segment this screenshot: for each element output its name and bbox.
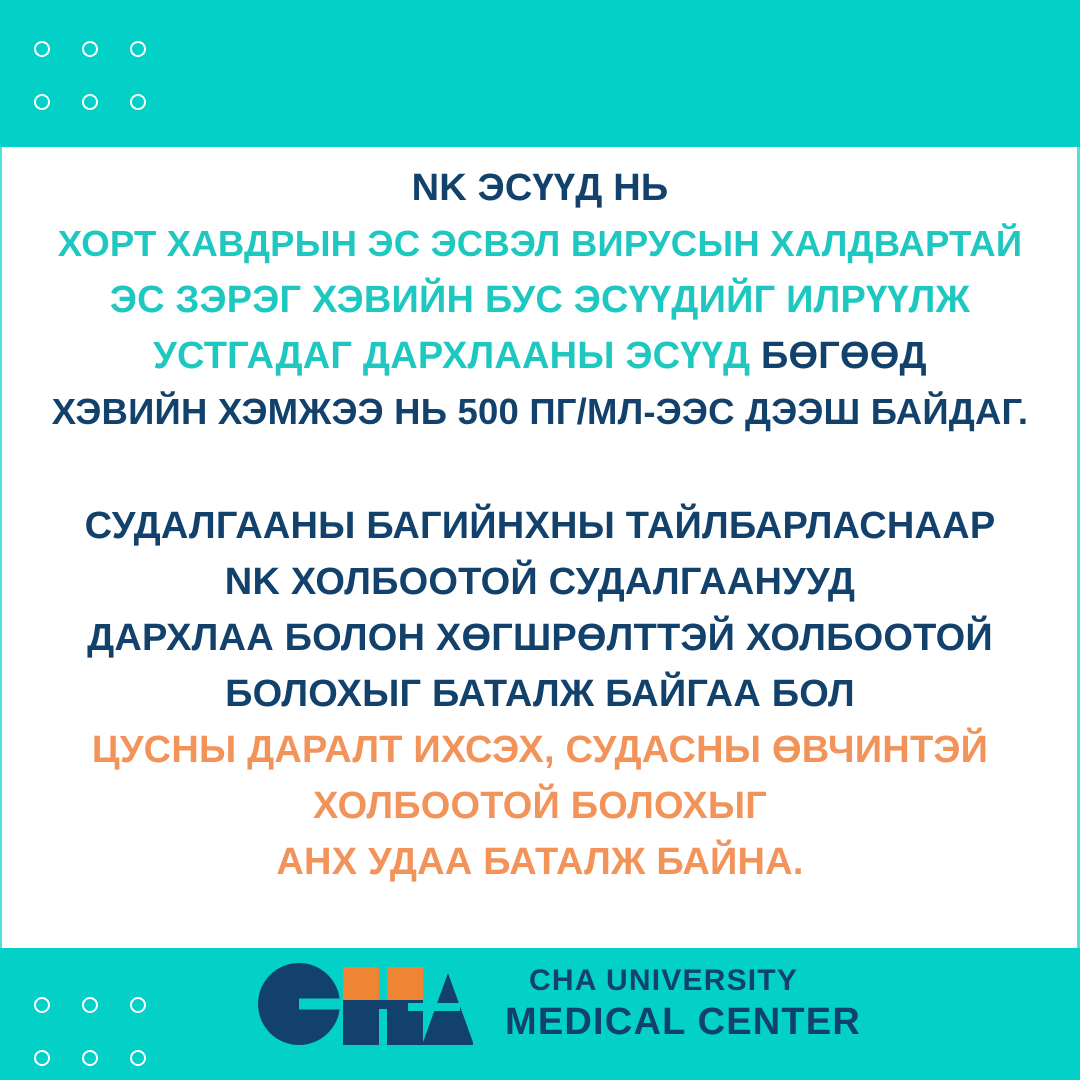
circle-outline-icon: [66, 75, 114, 128]
circle-outline-icon: [18, 1031, 66, 1080]
paragraph-two: СУДАЛГААНЫ БАГИЙНХНЫ ТАЙЛБАРЛАСНААР NK Х…: [0, 498, 1080, 722]
brand-line-university: CHA UNIVERSITY: [529, 966, 861, 996]
paragraph-three: ЦУСНЫ ДАРАЛТ ИХСЭХ, СУДАСНЫ ӨВЧИНТЭЙ ХОЛ…: [0, 722, 1080, 890]
text-line: NK ЭСҮҮД НЬ: [0, 160, 1080, 216]
poster-canvas: NK ЭСҮҮД НЬ ХОРТ ХАВДРЫН ЭС ЭСВЭЛ ВИРУСЫ…: [0, 0, 1080, 1080]
text-segment: УСТГАДАГ ДАРХЛААНЫ ЭСҮҮД: [153, 335, 750, 377]
circle-outline-icon: [18, 22, 66, 75]
decor-rings-top: [18, 22, 162, 128]
circle-outline-icon: [18, 978, 66, 1031]
cha-logo-icon: [258, 963, 473, 1045]
circle-outline-icon: [114, 22, 162, 75]
brand-wordmark: CHA UNIVERSITY MEDICAL CENTER: [505, 966, 861, 1041]
text-line-mixed: УСТГАДАГ ДАРХЛААНЫ ЭСҮҮД БӨГӨӨД: [0, 328, 1080, 384]
brand-line-medical-center: MEDICAL CENTER: [505, 1003, 861, 1041]
decor-rings-bottom: [18, 978, 162, 1080]
circle-outline-icon: [66, 978, 114, 1031]
circle-outline-icon: [66, 1031, 114, 1080]
circle-outline-icon: [18, 75, 66, 128]
text-line: АНХ УДАА БАТАЛЖ БАЙНА.: [0, 834, 1080, 890]
text-line: БОЛОХЫГ БАТАЛЖ БАЙГАА БОЛ: [0, 666, 1080, 722]
paragraph-one: NK ЭСҮҮД НЬ ХОРТ ХАВДРЫН ЭС ЭСВЭЛ ВИРУСЫ…: [0, 160, 1080, 440]
text-line: ХЭВИЙН ХЭМЖЭЭ НЬ 500 ПГ/МЛ-ЭЭС ДЭЭШ БАЙД…: [0, 384, 1080, 440]
circle-outline-icon: [114, 978, 162, 1031]
text-line: ХОЛБООТОЙ БОЛОХЫГ: [0, 778, 1080, 834]
circle-outline-icon: [66, 22, 114, 75]
text-line: ЭС ЗЭРЭГ ХЭВИЙН БУС ЭСҮҮДИЙГ ИЛРҮҮЛЖ: [0, 272, 1080, 328]
top-teal-band: [0, 0, 1080, 147]
circle-outline-icon: [114, 75, 162, 128]
message-body: NK ЭСҮҮД НЬ ХОРТ ХАВДРЫН ЭС ЭСВЭЛ ВИРУСЫ…: [0, 160, 1080, 890]
text-line: NK ХОЛБООТОЙ СУДАЛГААНУУД: [0, 554, 1080, 610]
text-line: СУДАЛГААНЫ БАГИЙНХНЫ ТАЙЛБАРЛАСНААР: [0, 498, 1080, 554]
text-line: ЦУСНЫ ДАРАЛТ ИХСЭХ, СУДАСНЫ ӨВЧИНТЭЙ: [0, 722, 1080, 778]
circle-outline-icon: [114, 1031, 162, 1080]
text-segment: БӨГӨӨД: [750, 335, 927, 377]
text-line: ДАРХЛАА БОЛОН ХӨГШРӨЛТТЭЙ ХОЛБООТОЙ: [0, 610, 1080, 666]
paragraph-spacer: [0, 440, 1080, 498]
text-line: ХОРТ ХАВДРЫН ЭС ЭСВЭЛ ВИРУСЫН ХАЛДВАРТАЙ: [0, 216, 1080, 272]
